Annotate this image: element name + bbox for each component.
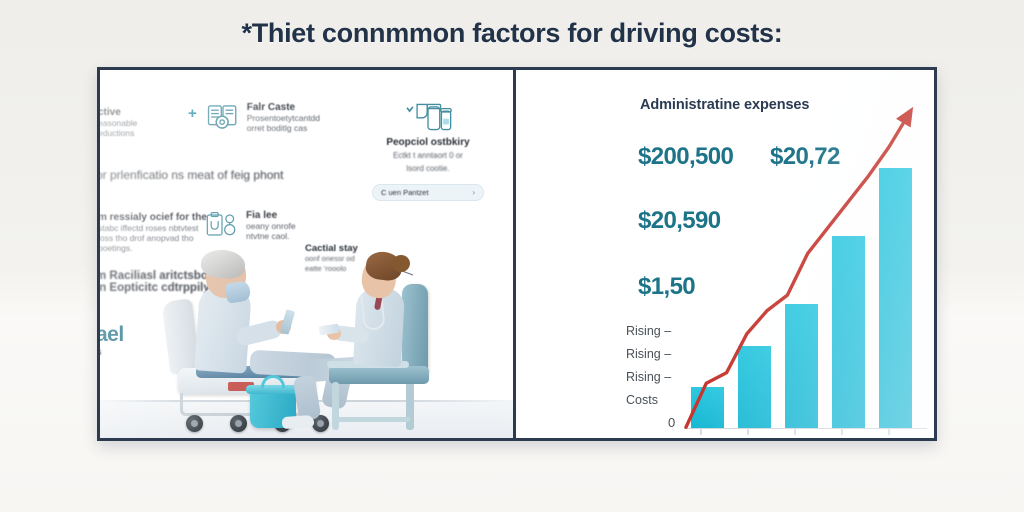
medication-card-sub2: lsord cootie. — [406, 164, 449, 174]
clinician-hair-bun — [392, 255, 410, 272]
text-block-deductions: ctive easonable eductions — [98, 107, 137, 138]
panel-divider — [513, 70, 516, 438]
plus-icon: + — [188, 106, 197, 121]
medication-card-button-label: C uen Pantzet — [381, 188, 429, 197]
patient-phone — [280, 309, 295, 335]
left-panel: ctive easonable eductions or prlenficati… — [100, 70, 513, 438]
y-axis-zero-label: 0 — [668, 415, 675, 430]
chair-leg — [332, 382, 339, 430]
pill-bottle-icon — [402, 100, 454, 134]
y-axis-label: Rising – — [626, 324, 671, 338]
bar-chart — [684, 130, 929, 435]
chair-seat — [329, 366, 429, 384]
y-axis-label: Costs — [626, 393, 658, 407]
text-block-identification: or prlenficatio ns meat of feig phont — [97, 168, 283, 182]
y-axis-label: Rising – — [626, 370, 671, 384]
clinic-illustration — [100, 223, 513, 438]
chevron-right-icon: › — [472, 188, 475, 197]
medication-card-sub1: Ectkt t anntaort 0 or — [393, 151, 463, 161]
chair-leg — [406, 382, 414, 430]
clinician-shoe — [282, 415, 315, 429]
records-card-text: Falr Caste Prosentoetytcantdd orret bodi… — [247, 102, 320, 133]
medication-card-title: Peopciol ostbkiry — [386, 137, 469, 148]
trend-line — [684, 130, 929, 435]
caster-wheel — [186, 415, 203, 432]
presentation-board: ctive easonable eductions or prlenficati… — [97, 67, 937, 441]
y-axis-label: Rising – — [626, 347, 671, 361]
page-title: *Thiet connmmon factors for driving cost… — [0, 18, 1024, 49]
medication-card[interactable]: Peopciol ostbkiry Ectkt t anntaort 0 or … — [368, 100, 488, 201]
chair-rail — [334, 417, 410, 422]
caster-wheel — [230, 415, 247, 432]
right-panel: Administratine expenses $200,500 $20,72 … — [516, 70, 937, 438]
records-card[interactable]: + Falr Caste Prosentoetytcantdd orret bo… — [188, 102, 320, 133]
right-panel-heading: Administratine expenses — [640, 97, 809, 113]
medication-card-button[interactable]: C uen Pantzet › — [372, 184, 484, 201]
medical-records-icon — [206, 102, 240, 132]
